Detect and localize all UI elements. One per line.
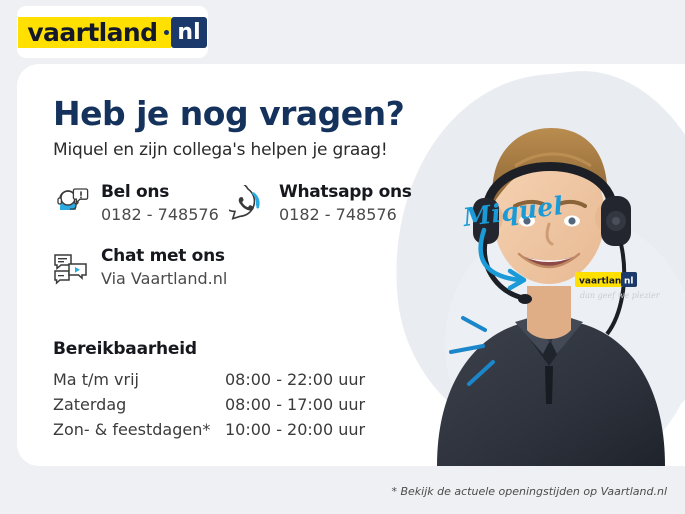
content-card: Heb je nog vragen? Miquel en zijn colleg…	[17, 64, 685, 466]
vaartland-logo[interactable]: vaartland nl	[17, 6, 208, 58]
svg-text:vaartland: vaartland	[579, 277, 628, 287]
contact-call-value: 0182 - 748576	[101, 207, 219, 224]
availability-day: Zaterdag	[53, 392, 225, 417]
contact-call-title: Bel ons	[101, 184, 219, 202]
availability-row: Zon- & feestdagen* 10:00 - 20:00 uur	[53, 417, 383, 442]
availability-row: Ma t/m vrij 08:00 - 22:00 uur	[53, 367, 383, 392]
contact-chat-text: Chat met ons Via Vaartland.nl	[101, 248, 227, 288]
whatsapp-icon	[229, 185, 267, 223]
contact-whatsapp-text: Whatsapp ons 0182 - 748576	[279, 184, 412, 224]
contact-whatsapp[interactable]: Whatsapp ons 0182 - 748576	[229, 184, 412, 224]
contact-chat[interactable]: Chat met ons Via Vaartland.nl	[51, 248, 227, 288]
contact-chat-title: Chat met ons	[101, 248, 227, 266]
contact-call-text: Bel ons 0182 - 748576	[101, 184, 219, 224]
svg-text:dan geef we plezier: dan geef we plezier	[580, 291, 661, 300]
availability-time: 08:00 - 22:00 uur	[225, 367, 365, 392]
availability-day: Ma t/m vrij	[53, 367, 225, 392]
logo-tld: nl	[171, 17, 206, 48]
footnote: * Bekijk de actuele openingstijden op Va…	[391, 485, 667, 498]
logo-lockup: vaartland nl	[18, 17, 206, 48]
availability-row: Zaterdag 08:00 - 17:00 uur	[53, 392, 383, 417]
curved-arrow-icon	[472, 224, 567, 294]
contact-call[interactable]: Bel ons 0182 - 748576	[51, 184, 219, 224]
decorative-spark-lines	[437, 296, 527, 406]
availability-time: 10:00 - 20:00 uur	[225, 417, 365, 442]
contact-whatsapp-value: 0182 - 748576	[279, 207, 412, 224]
contact-banner: vaartland nl Heb je nog vragen? Miquel e…	[0, 0, 685, 514]
availability-title: Bereikbaarheid	[53, 339, 197, 359]
page-title: Heb je nog vragen?	[53, 94, 404, 133]
svg-text:nl: nl	[624, 277, 634, 287]
headset-person-icon	[51, 185, 89, 223]
chat-bubbles-icon	[51, 249, 89, 287]
logo-dot-icon	[164, 17, 171, 48]
availability-table: Ma t/m vrij 08:00 - 22:00 uur Zaterdag 0…	[53, 367, 383, 442]
availability-time: 08:00 - 17:00 uur	[225, 392, 365, 417]
logo-wordmark: vaartland	[18, 17, 164, 48]
contact-chat-value: Via Vaartland.nl	[101, 271, 227, 288]
page-subtitle: Miquel en zijn collega's helpen je graag…	[53, 140, 388, 160]
availability-day: Zon- & feestdagen*	[53, 417, 225, 442]
contact-whatsapp-title: Whatsapp ons	[279, 184, 412, 202]
